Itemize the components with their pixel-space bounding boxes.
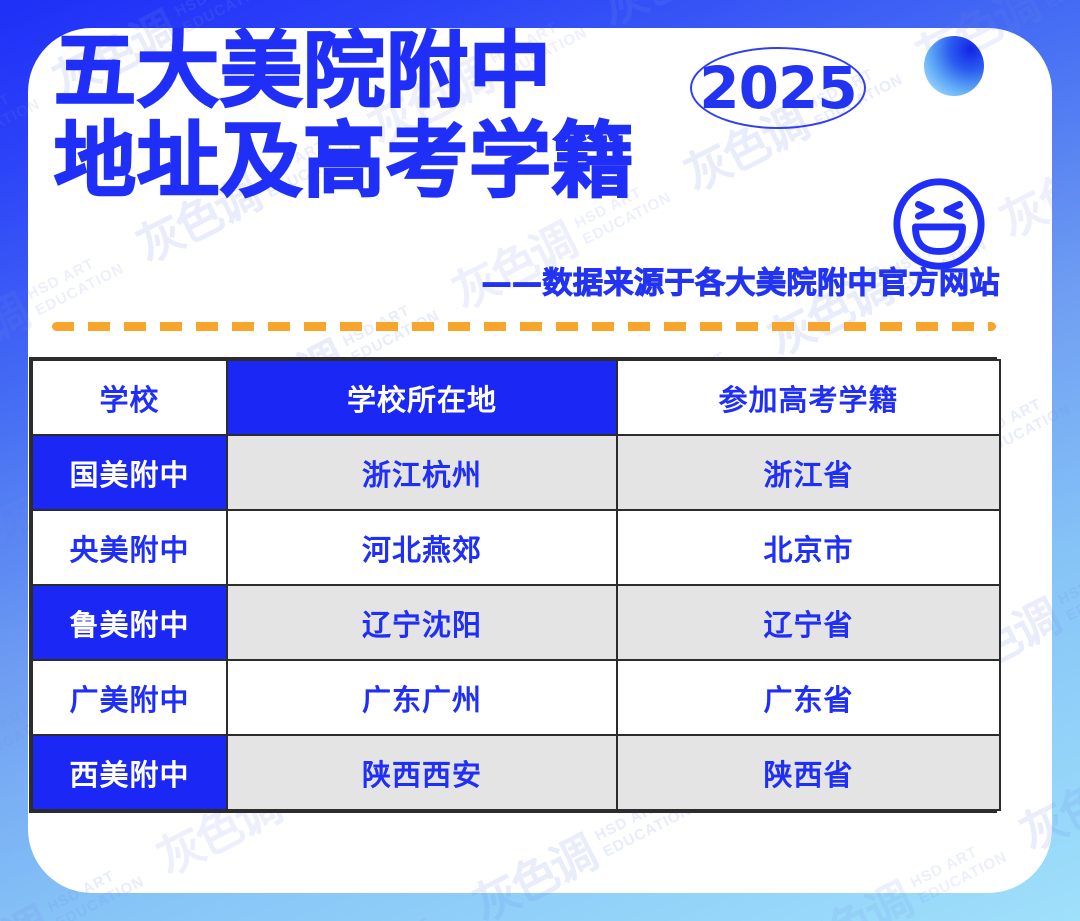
cell-registration: 北京市 — [617, 510, 1000, 585]
schools-table-container: 学校 学校所在地 参加高考学籍 国美附中浙江杭州浙江省央美附中河北燕郊北京市鲁美… — [29, 357, 997, 813]
col-header-school: 学校 — [32, 360, 227, 435]
cell-registration: 广东省 — [617, 660, 1000, 735]
cell-school: 央美附中 — [32, 510, 227, 585]
col-header-registration: 参加高考学籍 — [617, 360, 1000, 435]
gradient-circle-decoration — [924, 36, 984, 96]
cell-location: 浙江杭州 — [227, 435, 617, 510]
cell-registration: 辽宁省 — [617, 585, 1000, 660]
year-badge: 2025 — [690, 47, 866, 129]
watermark-logo-text: 灰色调 — [0, 900, 54, 921]
watermark-sub-text: HSD ARTEDUCATION — [1035, 0, 1080, 12]
cell-registration: 浙江省 — [617, 435, 1000, 510]
year-badge-label: 2025 — [699, 59, 856, 117]
watermark-tile: 灰色调HSD ARTEDUCATION — [1066, 801, 1080, 921]
watermark-sub-text: HSD ARTEDUCATION — [1056, 550, 1080, 625]
cell-location: 河北燕郊 — [227, 510, 617, 585]
cell-school: 国美附中 — [32, 435, 227, 510]
table-row: 广美附中广东广州广东省 — [32, 660, 1000, 735]
title-line-2: 地址及高考学籍 — [54, 122, 635, 202]
table-header-row: 学校 学校所在地 参加高考学籍 — [32, 360, 1000, 435]
cell-school: 鲁美附中 — [32, 585, 227, 660]
cell-location: 陕西西安 — [227, 735, 617, 810]
poster-root: 灰色调HSD ARTEDUCATION灰色调HSD ARTEDUCATION灰色… — [0, 0, 1080, 921]
table-row: 西美附中陕西西安陕西省 — [32, 735, 1000, 810]
col-header-location: 学校所在地 — [227, 360, 617, 435]
cell-location: 广东广州 — [227, 660, 617, 735]
title-line-1: 五大美院附中 — [54, 32, 635, 112]
table-body: 国美附中浙江杭州浙江省央美附中河北燕郊北京市鲁美附中辽宁沈阳辽宁省广美附中广东广… — [32, 435, 1000, 810]
table-row: 央美附中河北燕郊北京市 — [32, 510, 1000, 585]
subtitle-text: ——数据来源于各大美院附中官方网站 — [482, 258, 1001, 302]
cell-registration: 陕西省 — [617, 735, 1000, 810]
cell-school: 广美附中 — [32, 660, 227, 735]
schools-table: 学校 学校所在地 参加高考学籍 国美附中浙江杭州浙江省央美附中河北燕郊北京市鲁美… — [31, 359, 1001, 811]
poster-header: 五大美院附中 地址及高考学籍 2025 ——数据来源于各大美院附中官方网站 — [0, 0, 1024, 330]
cell-school: 西美附中 — [32, 735, 227, 810]
watermark-sub-text: HSD ARTEDUCATION — [361, 904, 463, 921]
table-row: 国美附中浙江杭州浙江省 — [32, 435, 1000, 510]
table-row: 鲁美附中辽宁沈阳辽宁省 — [32, 585, 1000, 660]
title-block: 五大美院附中 地址及高考学籍 — [54, 32, 635, 203]
cell-location: 辽宁沈阳 — [227, 585, 617, 660]
orange-dashed-divider — [52, 322, 996, 331]
table-header: 学校 学校所在地 参加高考学籍 — [32, 360, 1000, 435]
